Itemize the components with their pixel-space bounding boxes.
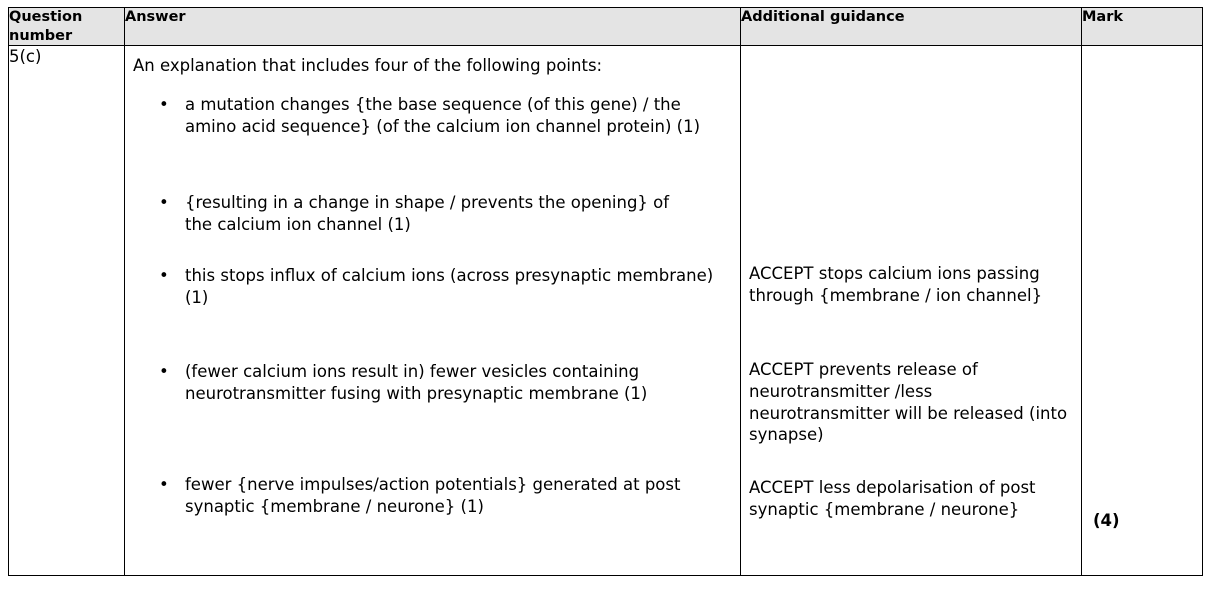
answer-bullet-3: • this stops influx of calcium ions (acr… (159, 265, 737, 309)
column-header-additional-guidance: Additional guidance (741, 8, 1082, 46)
answer-intro-text: An explanation that includes four of the… (133, 55, 723, 77)
cell-additional-guidance: ACCEPT stops calcium ions passing throug… (741, 46, 1082, 576)
answer-bullet-2: • {resulting in a change in shape / prev… (159, 192, 679, 236)
answer-bullet-4-text: (fewer calcium ions result in) fewer ves… (185, 361, 737, 405)
table-row: 5(c) An explanation that includes four o… (9, 46, 1203, 576)
answer-bullet-1-text: a mutation changes {the base sequence (o… (185, 94, 711, 138)
answer-bullet-2-text: {resulting in a change in shape / preven… (185, 192, 679, 236)
bullet-marker-icon: • (159, 192, 185, 214)
bullet-marker-icon: • (159, 265, 185, 287)
table-header-row: Question number Answer Additional guidan… (9, 8, 1203, 46)
cell-mark: (4) (1082, 46, 1203, 576)
guidance-note-3: ACCEPT less depolarisation of post synap… (749, 477, 1071, 521)
bullet-marker-icon: • (159, 94, 185, 116)
answer-bullet-3-text: this stops influx of calcium ions (acros… (185, 265, 737, 309)
answer-bullet-1: • a mutation changes {the base sequence … (159, 94, 711, 138)
answer-bullet-5: • fewer {nerve impulses/action potential… (159, 474, 737, 518)
column-header-answer: Answer (125, 8, 741, 46)
mark-total-value: (4) (1093, 510, 1120, 532)
answer-bullet-4: • (fewer calcium ions result in) fewer v… (159, 361, 737, 405)
guidance-note-1: ACCEPT stops calcium ions passing throug… (749, 263, 1071, 307)
answer-bullet-5-text: fewer {nerve impulses/action potentials}… (185, 474, 737, 518)
mark-scheme-page: Question number Answer Additional guidan… (0, 0, 1206, 592)
table-header: Question number Answer Additional guidan… (9, 8, 1203, 46)
cell-answer: An explanation that includes four of the… (125, 46, 741, 576)
bullet-marker-icon: • (159, 474, 185, 496)
mark-scheme-table: Question number Answer Additional guidan… (8, 7, 1203, 576)
guidance-note-2: ACCEPT prevents release of neurotransmit… (749, 359, 1071, 446)
column-header-mark: Mark (1082, 8, 1203, 46)
cell-question-number: 5(c) (9, 46, 125, 576)
table-body: 5(c) An explanation that includes four o… (9, 46, 1203, 576)
column-header-question-number: Question number (9, 8, 125, 46)
bullet-marker-icon: • (159, 361, 185, 383)
